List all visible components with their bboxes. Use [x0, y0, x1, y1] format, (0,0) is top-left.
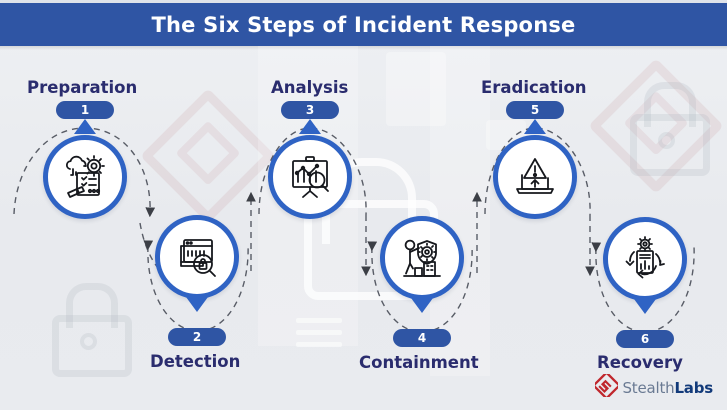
step-4-pointer — [411, 298, 433, 313]
chart-board-magnifier-icon — [286, 153, 334, 201]
step-3-label: Analysis — [271, 78, 348, 97]
cloud-gear-checklist-icon — [61, 153, 109, 201]
step-1-circle[interactable] — [43, 135, 127, 219]
stealthlabs-logo: StealthLabs — [595, 374, 713, 402]
step-1-badge: 1 — [56, 101, 114, 119]
step-1-label: Preparation — [27, 78, 137, 97]
step-5-pointer — [524, 119, 546, 134]
stealthlabs-diamond-icon — [595, 374, 618, 402]
step-2-badge: 2 — [168, 328, 226, 346]
infographic-canvas: The Six Steps of Incident Response — [0, 0, 727, 410]
step-2-label: Detection — [150, 352, 240, 371]
step-2-pointer — [186, 297, 208, 312]
laptop-warning-icon — [511, 153, 559, 201]
step-3-pointer — [299, 119, 321, 134]
step-4-circle[interactable] — [380, 216, 464, 300]
person-shield-buildings-icon — [398, 234, 446, 282]
refresh-document-gear-icon — [621, 235, 669, 283]
step-6-label: Recovery — [597, 353, 683, 372]
step-6-badge: 6 — [616, 330, 674, 348]
step-5-label: Eradication — [481, 78, 587, 97]
step-2-circle[interactable] — [155, 215, 239, 299]
stealthlabs-wordmark: StealthLabs — [622, 379, 713, 397]
logo-name-light: Stealth — [622, 379, 674, 397]
step-5-badge: 5 — [506, 101, 564, 119]
step-1-pointer — [74, 119, 96, 134]
step-3-badge: 3 — [281, 101, 339, 119]
step-3-circle[interactable] — [268, 135, 352, 219]
logo-name-bold: Labs — [674, 379, 713, 397]
step-6-circle[interactable] — [603, 217, 687, 301]
step-6-pointer — [634, 299, 656, 314]
screen-lock-magnifier-icon — [173, 233, 221, 281]
step-4-label: Containment — [359, 353, 479, 372]
step-5-circle[interactable] — [493, 135, 577, 219]
step-4-badge: 4 — [393, 329, 451, 347]
